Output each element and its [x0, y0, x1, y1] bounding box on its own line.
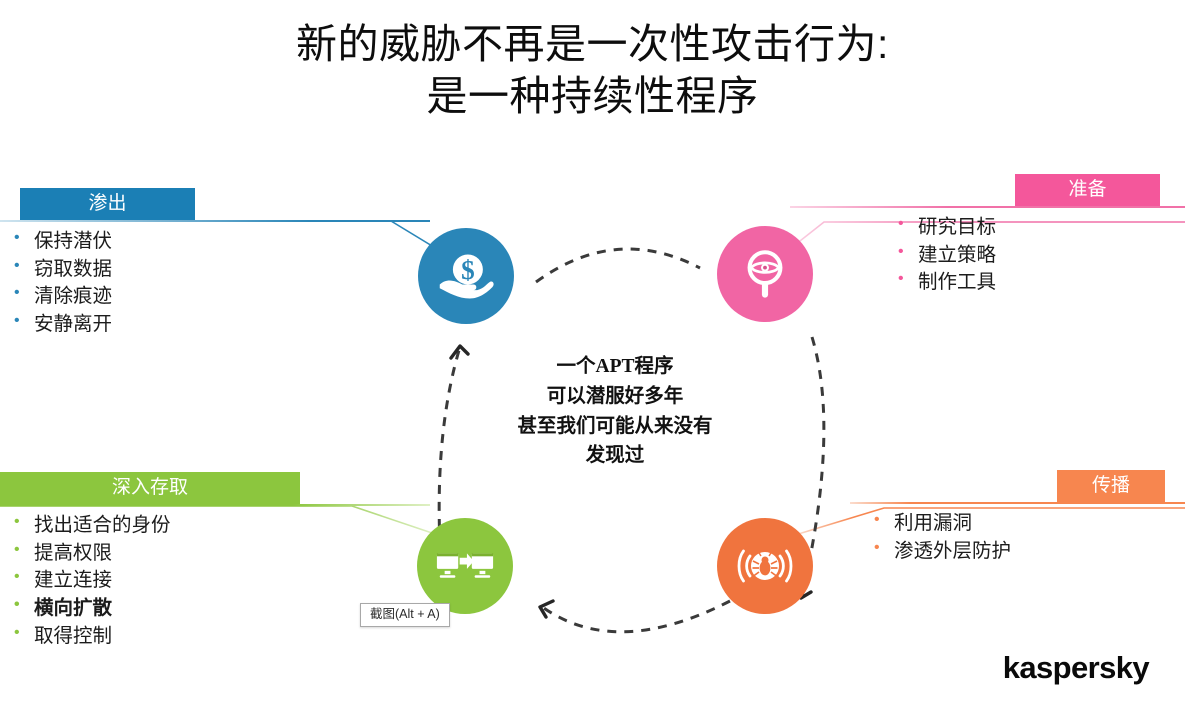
- list-item: 找出适合的身份: [0, 512, 430, 540]
- arrowhead-bottom-left: [540, 601, 553, 617]
- center-note: 一个APT程序 可以潜服好多年 甚至我们可能从来没有 发现过: [490, 352, 740, 471]
- list-item: 提高权限: [0, 540, 430, 568]
- list-item: 保持潜伏: [0, 228, 430, 256]
- node-propagation[interactable]: [717, 518, 813, 614]
- panel-propagation: 传播 利用漏洞 渗透外层防护: [850, 470, 1185, 565]
- arc-top: [536, 249, 700, 282]
- screenshot-tooltip: 截图(Alt + A): [360, 603, 450, 627]
- svg-text:$: $: [461, 255, 475, 285]
- list-item: 渗透外层防护: [860, 538, 1185, 566]
- panel-preparation-label: 准备: [1015, 174, 1160, 206]
- panel-preparation-bullets: 研究目标 建立策略 制作工具: [790, 208, 1185, 297]
- list-item: 研究目标: [884, 214, 1185, 242]
- node-exfiltration[interactable]: $: [418, 228, 514, 324]
- panel-exfiltration: 渗出 保持潜伏 窃取数据 清除痕迹 安静离开: [0, 188, 430, 339]
- panel-exfiltration-label: 渗出: [20, 188, 195, 220]
- panel-propagation-label: 传播: [1057, 470, 1165, 502]
- slide-canvas: 新的威胁不再是一次性攻击行为: 是一种持续性程序: [0, 0, 1185, 704]
- kaspersky-logo: kaspersky: [1003, 650, 1149, 686]
- list-item: 建立连接: [0, 567, 430, 595]
- bug-broadcast-icon: [733, 534, 797, 598]
- title-line-1: 新的威胁不再是一次性攻击行为:: [0, 18, 1185, 70]
- two-monitors-arrow-icon: [434, 535, 496, 597]
- list-item: 窃取数据: [0, 256, 430, 284]
- page-title: 新的威胁不再是一次性攻击行为: 是一种持续性程序: [0, 18, 1185, 123]
- panel-deepaccess-bullets: 找出适合的身份 提高权限 建立连接 横向扩散 取得控制: [0, 506, 430, 650]
- list-item: 利用漏洞: [860, 510, 1185, 538]
- panel-propagation-bullets: 利用漏洞 渗透外层防护: [850, 504, 1185, 565]
- list-item: 建立策略: [884, 242, 1185, 270]
- panel-preparation: 准备 研究目标 建立策略 制作工具: [790, 174, 1185, 297]
- magnifier-eye-icon: [736, 245, 794, 303]
- list-item: 制作工具: [884, 269, 1185, 297]
- panel-deepaccess-label: 深入存取: [0, 472, 300, 504]
- list-item: 清除痕迹: [0, 283, 430, 311]
- center-note-line-1: 一个APT程序: [490, 352, 740, 382]
- hand-holding-money-icon: $: [436, 246, 496, 306]
- arrowhead-left-up: [451, 346, 468, 358]
- title-line-2: 是一种持续性程序: [0, 70, 1185, 122]
- panel-exfiltration-bullets: 保持潜伏 窃取数据 清除痕迹 安静离开: [0, 222, 430, 339]
- arc-bottom: [541, 601, 730, 632]
- node-deepaccess[interactable]: [417, 518, 513, 614]
- list-item: 安静离开: [0, 311, 430, 339]
- arc-left: [439, 347, 460, 545]
- center-note-line-4: 发现过: [490, 441, 740, 471]
- center-note-line-2: 可以潜服好多年: [490, 382, 740, 412]
- center-note-line-3: 甚至我们可能从来没有: [490, 412, 740, 442]
